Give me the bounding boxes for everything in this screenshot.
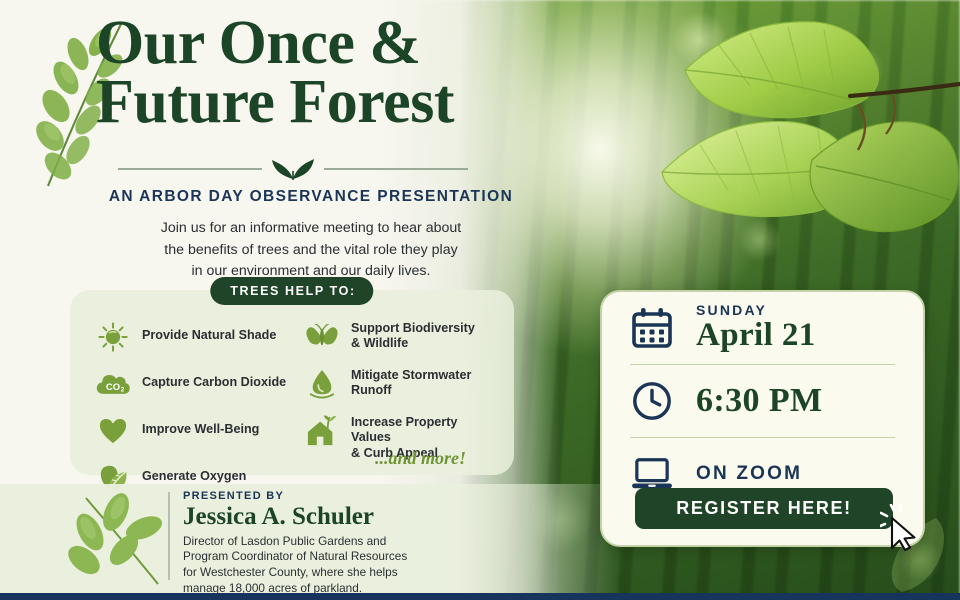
benefit-label-line-1: Mitigate Stormwater bbox=[351, 368, 471, 382]
event-kicker: AN ARBOR DAY OBSERVANCE PRESENTATION bbox=[96, 188, 526, 206]
divider-rule-right bbox=[324, 168, 468, 170]
register-here-button[interactable]: REGISTER HERE! bbox=[635, 488, 893, 529]
bio-line-1: Director of Lasdon Public Gardens and bbox=[183, 534, 483, 550]
divider-rule-left bbox=[118, 168, 262, 170]
benefit-label: Mitigate Stormwater Runoff bbox=[351, 367, 471, 399]
svg-text:2: 2 bbox=[121, 387, 125, 394]
bio-line-2: Program Coordinator of Natural Resources bbox=[183, 549, 483, 565]
presenter-text-block: PRESENTED BY Jessica A. Schuler Director… bbox=[183, 490, 483, 596]
title-line-1: Our Once & bbox=[96, 14, 526, 73]
title-divider bbox=[118, 158, 468, 180]
and-more-text: ...and more! bbox=[375, 448, 466, 469]
calendar-icon bbox=[628, 306, 676, 350]
event-time-row: 6:30 PM bbox=[602, 365, 923, 437]
page-title: Our Once & Future Forest bbox=[96, 14, 526, 132]
bottom-navy-bar bbox=[0, 593, 960, 600]
clock-icon bbox=[628, 380, 676, 422]
event-day-label: SUNDAY bbox=[696, 303, 816, 318]
leaf-spray-icon bbox=[62, 492, 172, 588]
event-details-card: SUNDAY April 21 6:30 PM bbox=[600, 290, 925, 547]
presenter-name: Jessica A. Schuler bbox=[183, 503, 483, 531]
event-date-row: SUNDAY April 21 bbox=[602, 292, 923, 364]
benefit-item-shade: Provide Natural Shade bbox=[94, 320, 291, 354]
benefits-pill-label: TREES HELP TO: bbox=[210, 277, 373, 305]
benefits-left-column: Provide Natural Shade CO 2 Capture Carbo… bbox=[94, 320, 291, 508]
benefit-label-line-2: & Wildlife bbox=[351, 336, 408, 350]
svg-text:CO: CO bbox=[106, 382, 120, 393]
presented-by-label: PRESENTED BY bbox=[183, 490, 483, 502]
benefit-label: Improve Well-Being bbox=[142, 414, 259, 437]
benefits-columns: Provide Natural Shade CO 2 Capture Carbo… bbox=[70, 320, 514, 508]
benefits-panel: TREES HELP TO: bbox=[70, 290, 514, 475]
benefit-item-wellbeing: Improve Well-Being bbox=[94, 414, 291, 448]
heart-icon bbox=[94, 414, 132, 448]
event-time-label: 6:30 PM bbox=[696, 382, 822, 420]
benefit-item-biodiversity: Support Biodiversity & Wildlife bbox=[303, 320, 500, 354]
bio-line-3: for Westchester County, where she helps bbox=[183, 565, 483, 581]
water-droplet-icon bbox=[303, 367, 341, 401]
presenter-bio: Director of Lasdon Public Gardens and Pr… bbox=[183, 534, 483, 597]
benefit-label: Capture Carbon Dioxide bbox=[142, 367, 286, 390]
presenter-divider bbox=[168, 492, 170, 580]
sprout-icon bbox=[270, 158, 316, 180]
benefit-label-line-1: Support Biodiversity bbox=[351, 321, 475, 335]
title-line-2: Future Forest bbox=[96, 73, 526, 132]
event-platform-label: ON ZOOM bbox=[696, 463, 802, 485]
backlit-leaves-graphic bbox=[600, 0, 960, 300]
house-sprout-icon bbox=[303, 414, 341, 448]
butterfly-icon bbox=[303, 320, 341, 354]
benefit-label: Support Biodiversity & Wildlife bbox=[351, 320, 475, 352]
sun-icon bbox=[94, 320, 132, 354]
benefit-label: Generate Oxygen bbox=[142, 461, 246, 484]
benefits-right-column: Support Biodiversity & Wildlife Mitigate… bbox=[291, 320, 500, 508]
blurb-line-1: Join us for an informative meeting to he… bbox=[96, 218, 526, 240]
event-date-label: April 21 bbox=[696, 318, 816, 353]
poster-canvas: Our Once & Future Forest AN ARBOR DAY OB… bbox=[0, 0, 960, 600]
benefit-label-line-2: Runoff bbox=[351, 383, 392, 397]
presenter-band: PRESENTED BY Jessica A. Schuler Director… bbox=[0, 484, 620, 594]
blurb-line-2: the benefits of trees and the vital role… bbox=[96, 240, 526, 262]
event-blurb: Join us for an informative meeting to he… bbox=[96, 218, 526, 283]
laptop-icon bbox=[628, 456, 676, 492]
co2-cloud-icon: CO 2 bbox=[94, 367, 132, 401]
benefit-item-stormwater: Mitigate Stormwater Runoff bbox=[303, 367, 500, 401]
benefit-label-line-1: Increase Property Values bbox=[351, 415, 457, 444]
benefit-item-carbon: CO 2 Capture Carbon Dioxide bbox=[94, 367, 291, 401]
event-date-text: SUNDAY April 21 bbox=[696, 303, 816, 353]
benefit-label: Provide Natural Shade bbox=[142, 320, 276, 343]
